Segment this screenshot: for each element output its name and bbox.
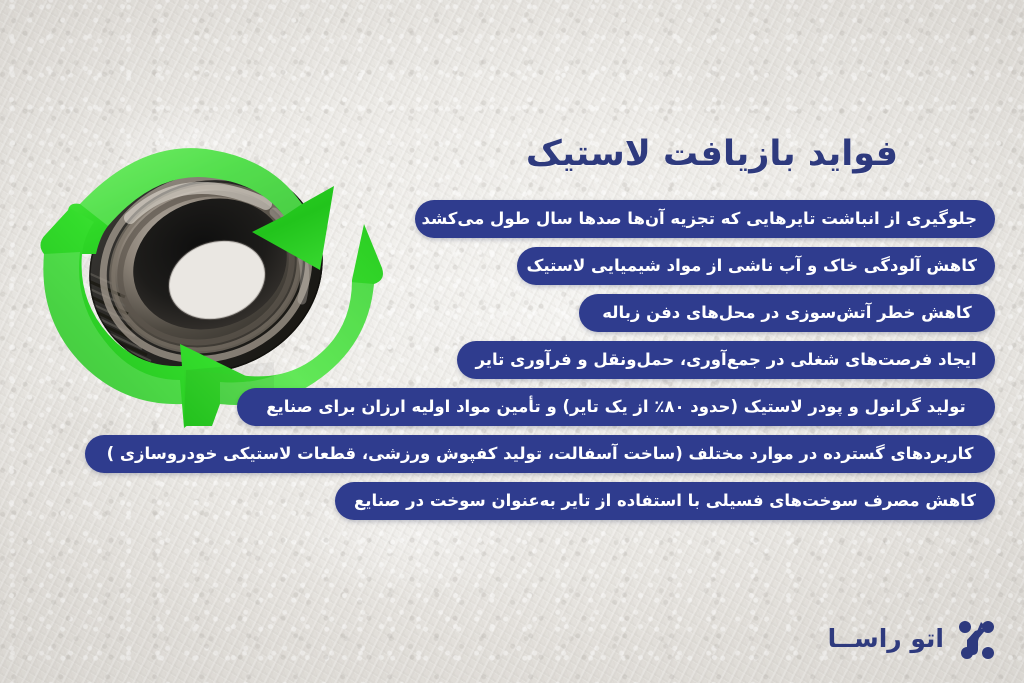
benefit-pill-2: کاهش آلودگی خاک و آب ناشی از مواد شیمیای… [517, 247, 995, 285]
infographic-poster: فواید بازیافت لاستیک جلوگیری از انباشت ت… [0, 0, 1024, 683]
benefit-text: کاهش آلودگی خاک و آب ناشی از مواد شیمیای… [526, 256, 977, 275]
benefit-text: کاربردهای گسترده در موارد مختلف (ساخت آس… [107, 444, 974, 463]
benefit-text: کاهش خطر آتش‌سوزی در محل‌های دفن زباله [602, 303, 971, 322]
benefit-pill-1: جلوگیری از انباشت تایرهایی که تجزیه آن‌ه… [415, 200, 995, 238]
benefit-pill-3: کاهش خطر آتش‌سوزی در محل‌های دفن زباله [579, 294, 995, 332]
brand-logo: اتو راســا [828, 615, 1000, 661]
benefit-pill-7: کاهش مصرف سوخت‌های فسیلی با استفاده از ت… [335, 482, 995, 520]
benefit-text: جلوگیری از انباشت تایرهایی که تجزیه آن‌ه… [421, 209, 977, 228]
auto-rasa-logo-mark-icon [954, 615, 1000, 661]
recycling-tire-artwork [34, 108, 386, 428]
benefit-text: تولید گرانول و پودر لاستیک (حدود ۸۰٪ از … [266, 397, 965, 416]
benefit-pill-4: ایجاد فرصت‌های شغلی در جمع‌آوری، حمل‌ونق… [457, 341, 995, 379]
page-title: فواید بازیافت لاستیک [430, 134, 994, 174]
benefit-pill-6: کاربردهای گسترده در موارد مختلف (ساخت آس… [85, 435, 995, 473]
benefit-pill-5: تولید گرانول و پودر لاستیک (حدود ۸۰٪ از … [237, 388, 995, 426]
brand-name: اتو راســا [828, 624, 944, 653]
benefit-text: ایجاد فرصت‌های شغلی در جمع‌آوری، حمل‌ونق… [475, 350, 976, 369]
benefit-text: کاهش مصرف سوخت‌های فسیلی با استفاده از ت… [354, 491, 976, 510]
